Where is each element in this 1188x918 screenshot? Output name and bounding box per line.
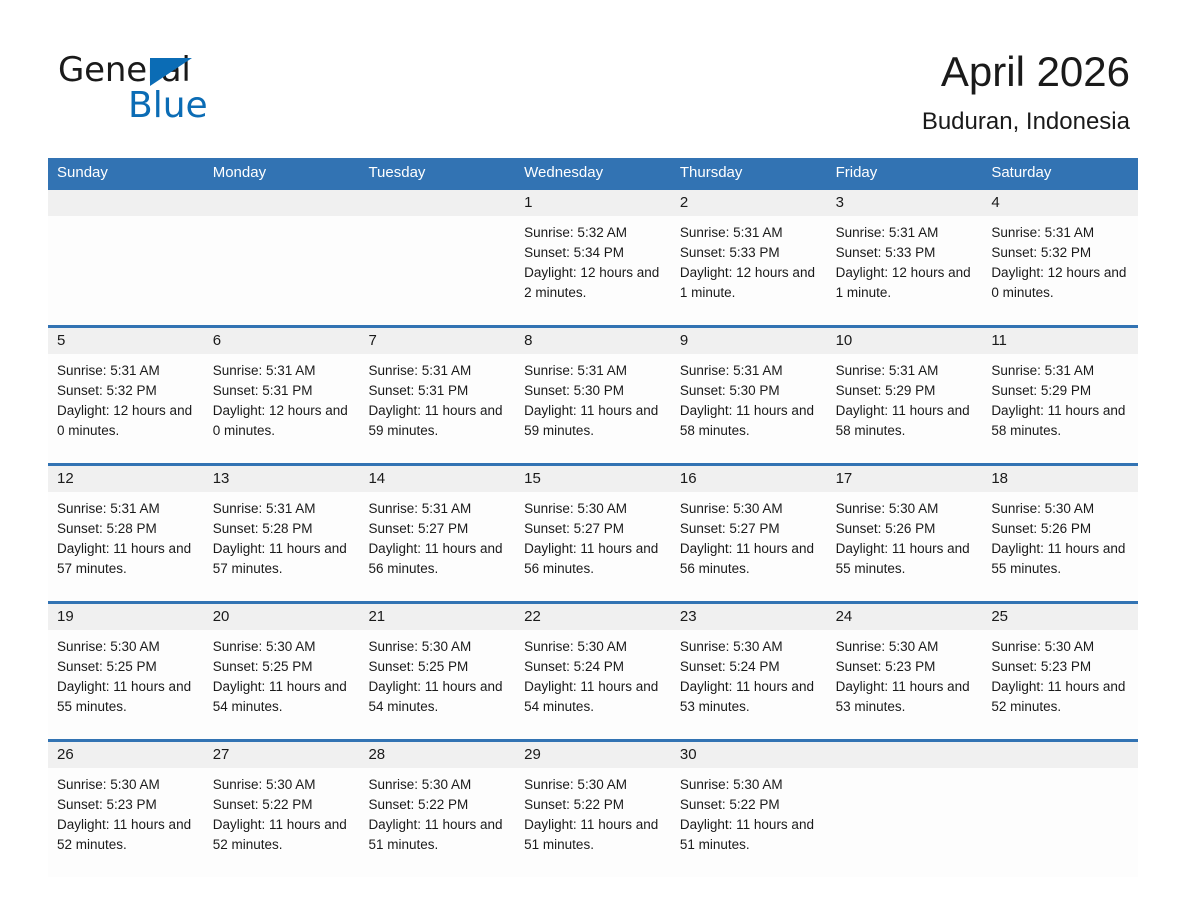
sunset-text: Sunset: 5:31 PM	[213, 381, 351, 401]
day-number[interactable]: 19	[48, 604, 204, 630]
daylight-text: Daylight: 11 hours and 56 minutes.	[524, 539, 662, 579]
day-cell[interactable]: Sunrise: 5:30 AM Sunset: 5:25 PM Dayligh…	[48, 630, 204, 739]
week-row: 5 6 7 8 9 10 11 Sunrise: 5:31 AM Sunset:…	[48, 325, 1138, 463]
daylight-text: Daylight: 11 hours and 59 minutes.	[368, 401, 506, 441]
day-cell[interactable]: Sunrise: 5:30 AM Sunset: 5:23 PM Dayligh…	[982, 630, 1138, 739]
daylight-text: Daylight: 11 hours and 54 minutes.	[524, 677, 662, 717]
daylight-text: Daylight: 11 hours and 52 minutes.	[57, 815, 195, 855]
day-number[interactable]: 16	[671, 466, 827, 492]
daylight-text: Daylight: 11 hours and 55 minutes.	[57, 677, 195, 717]
sunrise-text: Sunrise: 5:30 AM	[368, 775, 506, 795]
day-cell[interactable]: Sunrise: 5:30 AM Sunset: 5:23 PM Dayligh…	[48, 768, 204, 877]
day-cell[interactable]: Sunrise: 5:31 AM Sunset: 5:31 PM Dayligh…	[204, 354, 360, 463]
sunrise-text: Sunrise: 5:31 AM	[213, 361, 351, 381]
day-number[interactable]: 1	[515, 190, 671, 216]
day-number[interactable]: 27	[204, 742, 360, 768]
day-cell[interactable]: Sunrise: 5:31 AM Sunset: 5:27 PM Dayligh…	[359, 492, 515, 601]
daylight-text: Daylight: 11 hours and 55 minutes.	[836, 539, 974, 579]
daylight-text: Daylight: 11 hours and 57 minutes.	[57, 539, 195, 579]
sunrise-text: Sunrise: 5:32 AM	[524, 223, 662, 243]
logo-triangle-icon	[150, 58, 192, 86]
day-number[interactable]: 4	[982, 190, 1138, 216]
daylight-text: Daylight: 12 hours and 0 minutes.	[213, 401, 351, 441]
sunset-text: Sunset: 5:25 PM	[368, 657, 506, 677]
sunrise-text: Sunrise: 5:30 AM	[368, 637, 506, 657]
sunrise-text: Sunrise: 5:31 AM	[213, 499, 351, 519]
day-number[interactable]: 21	[359, 604, 515, 630]
day-cell[interactable]: Sunrise: 5:30 AM Sunset: 5:27 PM Dayligh…	[515, 492, 671, 601]
day-cell[interactable]: Sunrise: 5:31 AM Sunset: 5:28 PM Dayligh…	[48, 492, 204, 601]
sunset-text: Sunset: 5:26 PM	[836, 519, 974, 539]
day-number[interactable]: 8	[515, 328, 671, 354]
sunset-text: Sunset: 5:23 PM	[57, 795, 195, 815]
daylight-text: Daylight: 11 hours and 56 minutes.	[368, 539, 506, 579]
daylight-text: Daylight: 11 hours and 57 minutes.	[213, 539, 351, 579]
day-cell[interactable]: Sunrise: 5:30 AM Sunset: 5:22 PM Dayligh…	[359, 768, 515, 877]
day-number[interactable]: 13	[204, 466, 360, 492]
sunset-text: Sunset: 5:29 PM	[991, 381, 1129, 401]
sunrise-text: Sunrise: 5:30 AM	[836, 637, 974, 657]
sunset-text: Sunset: 5:27 PM	[680, 519, 818, 539]
sunrise-text: Sunrise: 5:31 AM	[991, 223, 1129, 243]
sunrise-text: Sunrise: 5:31 AM	[991, 361, 1129, 381]
day-number[interactable]: 10	[827, 328, 983, 354]
sunset-text: Sunset: 5:24 PM	[680, 657, 818, 677]
weekday-header-tuesday: Tuesday	[359, 158, 515, 187]
week-row: 26 27 28 29 30 Sunrise: 5:30 AM Sunset: …	[48, 739, 1138, 877]
title-block: April 2026 Buduran, Indonesia	[922, 46, 1130, 138]
week-row: 12 13 14 15 16 17 18 Sunrise: 5:31 AM Su…	[48, 463, 1138, 601]
sunrise-text: Sunrise: 5:31 AM	[57, 499, 195, 519]
sunset-text: Sunset: 5:30 PM	[680, 381, 818, 401]
sunrise-text: Sunrise: 5:30 AM	[57, 637, 195, 657]
sunset-text: Sunset: 5:28 PM	[213, 519, 351, 539]
sunrise-text: Sunrise: 5:30 AM	[680, 775, 818, 795]
day-number[interactable]: 5	[48, 328, 204, 354]
day-cell[interactable]: Sunrise: 5:31 AM Sunset: 5:29 PM Dayligh…	[982, 354, 1138, 463]
general-blue-logo[interactable]: General Blue	[58, 50, 318, 130]
day-cell[interactable]: Sunrise: 5:30 AM Sunset: 5:25 PM Dayligh…	[359, 630, 515, 739]
daylight-text: Daylight: 11 hours and 51 minutes.	[368, 815, 506, 855]
sunrise-text: Sunrise: 5:31 AM	[368, 361, 506, 381]
weekday-header-sunday: Sunday	[48, 158, 204, 187]
day-number[interactable]: 17	[827, 466, 983, 492]
page-subtitle-location: Buduran, Indonesia	[922, 106, 1130, 138]
day-number[interactable]: 25	[982, 604, 1138, 630]
day-number[interactable]: 24	[827, 604, 983, 630]
daylight-text: Daylight: 11 hours and 54 minutes.	[368, 677, 506, 717]
sunset-text: Sunset: 5:27 PM	[524, 519, 662, 539]
daylight-text: Daylight: 11 hours and 54 minutes.	[213, 677, 351, 717]
sunrise-text: Sunrise: 5:30 AM	[57, 775, 195, 795]
day-number[interactable]: 30	[671, 742, 827, 768]
sunset-text: Sunset: 5:26 PM	[991, 519, 1129, 539]
day-number[interactable]	[204, 190, 360, 216]
sunset-text: Sunset: 5:22 PM	[368, 795, 506, 815]
day-cell[interactable]	[982, 768, 1138, 877]
sunset-text: Sunset: 5:23 PM	[991, 657, 1129, 677]
daylight-text: Daylight: 12 hours and 1 minute.	[680, 263, 818, 303]
sunrise-text: Sunrise: 5:30 AM	[524, 637, 662, 657]
day-number[interactable]: 26	[48, 742, 204, 768]
week-day-details: Sunrise: 5:31 AM Sunset: 5:32 PM Dayligh…	[48, 354, 1138, 463]
sunset-text: Sunset: 5:32 PM	[991, 243, 1129, 263]
day-cell[interactable]: Sunrise: 5:30 AM Sunset: 5:22 PM Dayligh…	[671, 768, 827, 877]
daylight-text: Daylight: 11 hours and 52 minutes.	[213, 815, 351, 855]
day-cell[interactable]: Sunrise: 5:31 AM Sunset: 5:33 PM Dayligh…	[671, 216, 827, 325]
sunset-text: Sunset: 5:33 PM	[836, 243, 974, 263]
day-cell[interactable]	[359, 216, 515, 325]
sunset-text: Sunset: 5:29 PM	[836, 381, 974, 401]
sunrise-text: Sunrise: 5:31 AM	[836, 223, 974, 243]
calendar-grid: Sunday Monday Tuesday Wednesday Thursday…	[48, 158, 1138, 877]
sunrise-text: Sunrise: 5:31 AM	[836, 361, 974, 381]
day-number[interactable]: 22	[515, 604, 671, 630]
day-cell[interactable]: Sunrise: 5:31 AM Sunset: 5:33 PM Dayligh…	[827, 216, 983, 325]
week-day-details: Sunrise: 5:30 AM Sunset: 5:25 PM Dayligh…	[48, 630, 1138, 739]
day-cell[interactable]: Sunrise: 5:31 AM Sunset: 5:31 PM Dayligh…	[359, 354, 515, 463]
sunset-text: Sunset: 5:30 PM	[524, 381, 662, 401]
daylight-text: Daylight: 11 hours and 56 minutes.	[680, 539, 818, 579]
day-number[interactable]: 14	[359, 466, 515, 492]
logo-word-blue: Blue	[128, 85, 208, 126]
logo-bottom-row: Blue	[58, 88, 318, 128]
day-number[interactable]: 20	[204, 604, 360, 630]
day-cell[interactable]	[827, 768, 983, 877]
daylight-text: Daylight: 11 hours and 52 minutes.	[991, 677, 1129, 717]
day-cell[interactable]: Sunrise: 5:31 AM Sunset: 5:32 PM Dayligh…	[982, 216, 1138, 325]
sunset-text: Sunset: 5:24 PM	[524, 657, 662, 677]
sunset-text: Sunset: 5:33 PM	[680, 243, 818, 263]
week-day-details: Sunrise: 5:31 AM Sunset: 5:28 PM Dayligh…	[48, 492, 1138, 601]
week-day-numbers: 12 13 14 15 16 17 18	[48, 466, 1138, 492]
day-number[interactable]	[359, 190, 515, 216]
sunset-text: Sunset: 5:22 PM	[680, 795, 818, 815]
page-title: April 2026	[922, 46, 1130, 98]
day-number[interactable]	[827, 742, 983, 768]
sunrise-text: Sunrise: 5:30 AM	[991, 637, 1129, 657]
weekday-header-monday: Monday	[204, 158, 360, 187]
day-number[interactable]	[982, 742, 1138, 768]
day-number[interactable]: 12	[48, 466, 204, 492]
day-number[interactable]: 28	[359, 742, 515, 768]
weekday-header-friday: Friday	[827, 158, 983, 187]
sunset-text: Sunset: 5:31 PM	[368, 381, 506, 401]
week-row: 19 20 21 22 23 24 25 Sunrise: 5:30 AM Su…	[48, 601, 1138, 739]
day-cell[interactable]: Sunrise: 5:31 AM Sunset: 5:30 PM Dayligh…	[515, 354, 671, 463]
day-number[interactable]: 6	[204, 328, 360, 354]
day-cell[interactable]: Sunrise: 5:32 AM Sunset: 5:34 PM Dayligh…	[515, 216, 671, 325]
day-cell[interactable]	[48, 216, 204, 325]
sunrise-text: Sunrise: 5:30 AM	[524, 499, 662, 519]
sunset-text: Sunset: 5:25 PM	[57, 657, 195, 677]
page-header: General Blue April 2026 Buduran, Indones…	[0, 0, 1188, 150]
day-cell[interactable]: Sunrise: 5:30 AM Sunset: 5:26 PM Dayligh…	[827, 492, 983, 601]
week-day-details: Sunrise: 5:32 AM Sunset: 5:34 PM Dayligh…	[48, 216, 1138, 325]
calendar-page: General Blue April 2026 Buduran, Indones…	[0, 0, 1188, 918]
week-day-numbers: 5 6 7 8 9 10 11	[48, 328, 1138, 354]
day-number[interactable]: 9	[671, 328, 827, 354]
week-day-numbers: 19 20 21 22 23 24 25	[48, 604, 1138, 630]
sunrise-text: Sunrise: 5:31 AM	[368, 499, 506, 519]
day-number[interactable]: 3	[827, 190, 983, 216]
week-day-numbers: 1 2 3 4	[48, 190, 1138, 216]
sunrise-text: Sunrise: 5:30 AM	[680, 499, 818, 519]
week-day-details: Sunrise: 5:30 AM Sunset: 5:23 PM Dayligh…	[48, 768, 1138, 877]
day-number[interactable]: 7	[359, 328, 515, 354]
day-number[interactable]: 29	[515, 742, 671, 768]
day-cell[interactable]: Sunrise: 5:30 AM Sunset: 5:22 PM Dayligh…	[515, 768, 671, 877]
day-number[interactable]	[48, 190, 204, 216]
daylight-text: Daylight: 12 hours and 0 minutes.	[57, 401, 195, 441]
sunset-text: Sunset: 5:34 PM	[524, 243, 662, 263]
daylight-text: Daylight: 11 hours and 51 minutes.	[524, 815, 662, 855]
daylight-text: Daylight: 11 hours and 58 minutes.	[991, 401, 1129, 441]
day-cell[interactable]: Sunrise: 5:31 AM Sunset: 5:28 PM Dayligh…	[204, 492, 360, 601]
day-cell[interactable]: Sunrise: 5:31 AM Sunset: 5:30 PM Dayligh…	[671, 354, 827, 463]
day-number[interactable]: 15	[515, 466, 671, 492]
sunset-text: Sunset: 5:27 PM	[368, 519, 506, 539]
sunset-text: Sunset: 5:25 PM	[213, 657, 351, 677]
day-cell[interactable]: Sunrise: 5:30 AM Sunset: 5:27 PM Dayligh…	[671, 492, 827, 601]
sunset-text: Sunset: 5:28 PM	[57, 519, 195, 539]
daylight-text: Daylight: 11 hours and 53 minutes.	[680, 677, 818, 717]
weekday-header-wednesday: Wednesday	[515, 158, 671, 187]
daylight-text: Daylight: 12 hours and 0 minutes.	[991, 263, 1129, 303]
week-day-numbers: 26 27 28 29 30	[48, 742, 1138, 768]
day-cell[interactable]: Sunrise: 5:30 AM Sunset: 5:25 PM Dayligh…	[204, 630, 360, 739]
sunrise-text: Sunrise: 5:30 AM	[680, 637, 818, 657]
day-cell[interactable]: Sunrise: 5:31 AM Sunset: 5:32 PM Dayligh…	[48, 354, 204, 463]
day-number[interactable]: 11	[982, 328, 1138, 354]
daylight-text: Daylight: 12 hours and 2 minutes.	[524, 263, 662, 303]
daylight-text: Daylight: 11 hours and 58 minutes.	[680, 401, 818, 441]
day-cell[interactable]: Sunrise: 5:30 AM Sunset: 5:26 PM Dayligh…	[982, 492, 1138, 601]
week-row: 1 2 3 4	[48, 187, 1138, 325]
daylight-text: Daylight: 11 hours and 55 minutes.	[991, 539, 1129, 579]
sunrise-text: Sunrise: 5:31 AM	[57, 361, 195, 381]
day-number[interactable]: 23	[671, 604, 827, 630]
sunset-text: Sunset: 5:32 PM	[57, 381, 195, 401]
daylight-text: Daylight: 11 hours and 59 minutes.	[524, 401, 662, 441]
sunset-text: Sunset: 5:23 PM	[836, 657, 974, 677]
day-cell[interactable]: Sunrise: 5:30 AM Sunset: 5:24 PM Dayligh…	[671, 630, 827, 739]
daylight-text: Daylight: 12 hours and 1 minute.	[836, 263, 974, 303]
weekday-header-row: Sunday Monday Tuesday Wednesday Thursday…	[48, 158, 1138, 187]
day-number[interactable]: 2	[671, 190, 827, 216]
sunrise-text: Sunrise: 5:31 AM	[524, 361, 662, 381]
sunset-text: Sunset: 5:22 PM	[524, 795, 662, 815]
day-number[interactable]: 18	[982, 466, 1138, 492]
sunrise-text: Sunrise: 5:30 AM	[991, 499, 1129, 519]
sunrise-text: Sunrise: 5:30 AM	[213, 775, 351, 795]
daylight-text: Daylight: 11 hours and 53 minutes.	[836, 677, 974, 717]
weekday-header-saturday: Saturday	[982, 158, 1138, 187]
day-cell[interactable]: Sunrise: 5:31 AM Sunset: 5:29 PM Dayligh…	[827, 354, 983, 463]
logo-top-row: General	[58, 50, 318, 90]
daylight-text: Daylight: 11 hours and 51 minutes.	[680, 815, 818, 855]
day-cell[interactable]: Sunrise: 5:30 AM Sunset: 5:23 PM Dayligh…	[827, 630, 983, 739]
sunset-text: Sunset: 5:22 PM	[213, 795, 351, 815]
sunrise-text: Sunrise: 5:30 AM	[836, 499, 974, 519]
weekday-header-thursday: Thursday	[671, 158, 827, 187]
sunrise-text: Sunrise: 5:30 AM	[213, 637, 351, 657]
day-cell[interactable]: Sunrise: 5:30 AM Sunset: 5:22 PM Dayligh…	[204, 768, 360, 877]
sunrise-text: Sunrise: 5:30 AM	[524, 775, 662, 795]
sunrise-text: Sunrise: 5:31 AM	[680, 361, 818, 381]
day-cell[interactable]	[204, 216, 360, 325]
daylight-text: Daylight: 11 hours and 58 minutes.	[836, 401, 974, 441]
day-cell[interactable]: Sunrise: 5:30 AM Sunset: 5:24 PM Dayligh…	[515, 630, 671, 739]
sunrise-text: Sunrise: 5:31 AM	[680, 223, 818, 243]
